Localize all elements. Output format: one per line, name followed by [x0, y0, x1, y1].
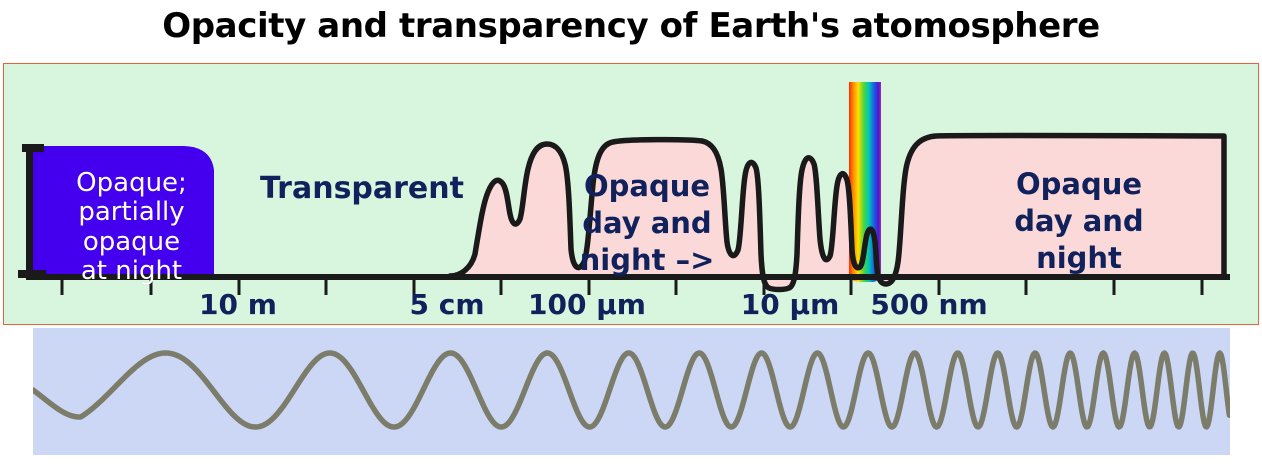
radio-opaque-block: [26, 146, 214, 276]
sine-wave-path: [33, 353, 1229, 427]
page-title: Opacity and transparency of Earth's atom…: [0, 6, 1262, 46]
wavelength-illustration-panel: [33, 328, 1230, 455]
opacity-chart-panel: Opaque; partially opaque at night Transp…: [3, 63, 1259, 325]
figure-root: Opacity and transparency of Earth's atom…: [0, 0, 1262, 472]
wavelength-wave-svg: [33, 328, 1230, 455]
axis-tick-label-2: 100 µm: [528, 288, 646, 321]
axis-tick-label-1: 5 cm: [409, 288, 484, 321]
opacity-curve-svg: [4, 64, 1260, 326]
axis-tick-label-3: 10 µm: [741, 288, 840, 321]
axis-tick-label-0: 10 m: [199, 288, 277, 321]
axis-tick-label-4: 500 nm: [870, 288, 987, 321]
